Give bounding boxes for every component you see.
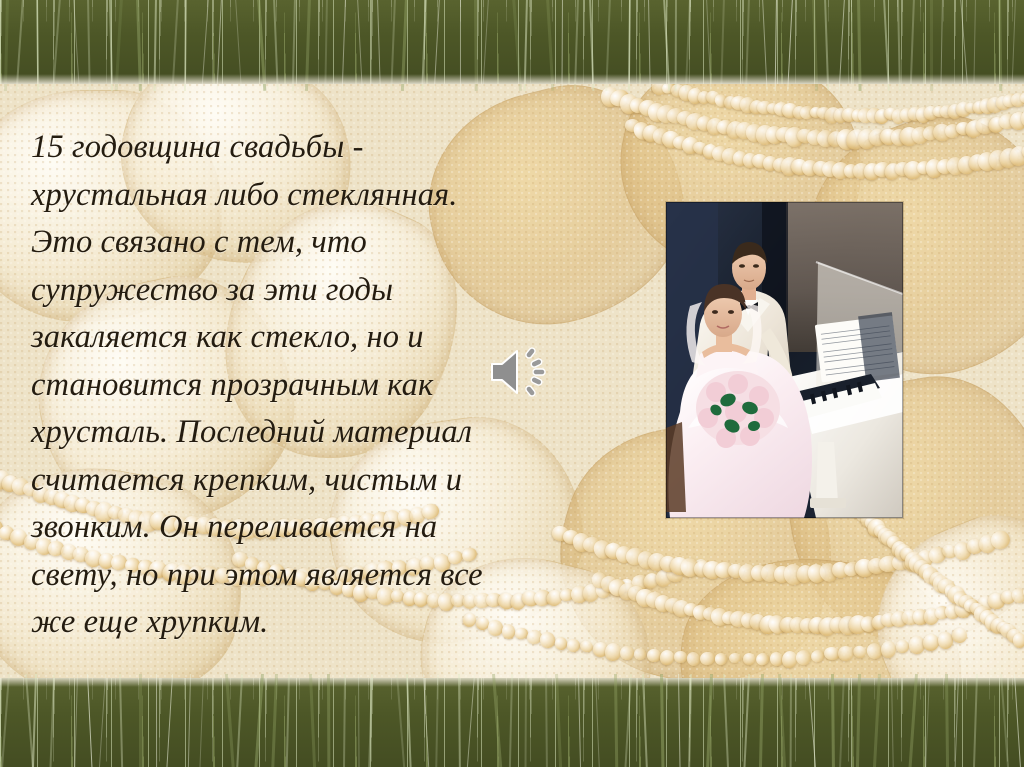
grass-stalk — [271, 674, 278, 767]
grass-stalk — [721, 0, 726, 91]
grass-stalk — [688, 674, 692, 767]
body-text-line: хрустальная либо стеклянная. — [31, 172, 546, 220]
grass-stalk — [327, 674, 330, 767]
grass-stalk — [458, 674, 461, 767]
grass-stalk — [474, 0, 478, 91]
body-text-line: звонким. Он переливается на — [31, 504, 546, 552]
grass-stalk — [524, 0, 528, 91]
grass-stalk — [685, 0, 691, 91]
grass-stalk — [401, 0, 408, 91]
grass-stalk — [36, 0, 39, 91]
grass-stalk — [648, 0, 651, 91]
grass-stalk — [156, 674, 157, 767]
grass-stalk — [166, 674, 173, 767]
grass-stalk — [377, 0, 381, 91]
grass-stalk — [406, 674, 412, 767]
grass-stalk — [955, 674, 960, 767]
grass-stalk — [674, 0, 676, 91]
grass-stalk — [546, 0, 554, 91]
grass-stalk — [52, 0, 61, 91]
grass-stalk — [663, 0, 670, 91]
grass-stalk — [201, 0, 209, 91]
wedding-photo — [666, 202, 903, 518]
grass-stalk — [808, 674, 816, 767]
grass-stalk — [706, 674, 713, 767]
grass-stalk — [136, 0, 142, 91]
grass-stalk — [73, 0, 80, 91]
grass-stalk — [216, 0, 221, 91]
grass-stalk — [187, 674, 190, 767]
body-text-line: хрусталь. Последний материал — [31, 409, 546, 457]
grass-stalk — [824, 0, 829, 91]
grass-stalk — [1014, 674, 1021, 767]
grass-stalk — [973, 674, 978, 767]
grass-stalk — [139, 674, 142, 767]
grass-stalk — [838, 0, 844, 91]
grass-stalk — [99, 674, 106, 767]
grass-stalk — [745, 0, 750, 91]
grass-stalk — [973, 0, 976, 91]
presentation-slide: 15 годовщина свадьбы -хрустальная либо с… — [0, 0, 1024, 767]
grass-stalk — [257, 0, 266, 91]
grass-stalk — [909, 0, 914, 91]
grass-stalk — [119, 674, 123, 767]
body-text-line: становится прозрачным как — [31, 362, 546, 410]
grass-stalk — [153, 0, 156, 91]
grass-stalk — [396, 674, 406, 767]
grass-stalk — [525, 674, 528, 767]
grass-stalk — [857, 0, 862, 91]
grass-stalk — [390, 0, 396, 91]
body-text-line: считается крепким, чистым и — [31, 457, 546, 505]
grass-stalk — [812, 0, 818, 91]
grass-stalk — [1, 674, 10, 767]
grass-stalk — [545, 674, 548, 767]
grass-stalk — [606, 0, 612, 91]
grass-stalk — [891, 674, 894, 767]
top-decorative-border — [0, 0, 1024, 84]
grass-stalk — [512, 0, 522, 91]
grass-stalk — [467, 674, 476, 767]
grass-stalk — [945, 674, 949, 767]
grass-stalk — [305, 0, 311, 91]
grass-stalk — [423, 674, 430, 767]
grass-stalk — [273, 0, 279, 91]
grass-stalk — [254, 674, 264, 767]
grass-stalk — [343, 674, 346, 767]
grass-stalk — [357, 0, 363, 91]
grass-stalk — [678, 674, 681, 767]
grass-stalk — [225, 674, 235, 767]
grass-stalk — [925, 674, 930, 767]
grass-stalk — [941, 0, 944, 91]
grass-stalk — [109, 0, 113, 91]
grass-stalk — [236, 674, 243, 767]
grass-stalk — [286, 674, 290, 767]
grass-stalk — [759, 674, 764, 767]
grass-stalk — [32, 674, 37, 767]
grass-stalk — [342, 0, 346, 91]
body-text-line: Это связано с тем, что — [31, 219, 546, 267]
grass-stalk — [368, 674, 373, 767]
grass-stalk — [778, 674, 786, 767]
grass-stalk — [789, 674, 791, 767]
body-text-line: же еще хрупким. — [31, 599, 546, 647]
grass-stalk — [960, 0, 968, 90]
grass-stalk — [930, 0, 933, 91]
grass-stalk — [628, 0, 631, 91]
speaker-icon[interactable] — [489, 344, 551, 400]
grass-stalk — [624, 674, 632, 767]
grass-stalk — [743, 674, 750, 767]
grass-stalk — [788, 0, 794, 91]
grass-stalk — [595, 674, 600, 767]
grass-stalk — [723, 674, 729, 767]
grass-stalk — [762, 0, 768, 91]
grass-stalk — [460, 0, 461, 91]
grass-stalk — [642, 674, 648, 767]
grass-stalk — [172, 0, 179, 91]
grass-stalk — [49, 674, 55, 767]
body-text-line: супружество за эти годы — [31, 267, 546, 315]
grass-stalk — [555, 674, 562, 767]
grass-stalk — [774, 0, 776, 91]
grass-stalk — [115, 0, 123, 91]
grass-stalk — [309, 674, 316, 767]
body-text-line: свету, но при этом является все — [31, 552, 546, 600]
body-text-line: закаляется как стекло, но и — [31, 314, 546, 362]
grass-stalk — [839, 674, 845, 767]
grass-stalk — [324, 0, 328, 91]
grass-stalk — [856, 674, 861, 767]
grass-stalk — [706, 0, 711, 91]
grass-stalk — [1012, 0, 1017, 91]
grass-stalk — [435, 674, 439, 767]
grass-stalk — [492, 674, 503, 767]
grass-stalk — [831, 674, 835, 767]
grass-stalk — [1000, 674, 1010, 767]
grass-stalk — [4, 0, 9, 91]
grass-stalk — [235, 0, 242, 91]
bottom-decorative-border — [0, 678, 1024, 767]
grass-stalk — [87, 0, 91, 91]
grass-stalk — [292, 0, 296, 91]
grass-stalk — [574, 0, 579, 91]
grass-stalk — [74, 674, 78, 767]
grass-stalk — [873, 674, 881, 767]
grass-stalk — [908, 674, 918, 767]
slide-body-text: 15 годовщина свадьбы -хрустальная либо с… — [31, 124, 546, 647]
grass-stalk — [883, 0, 890, 91]
grass-stalk — [509, 674, 513, 767]
grass-stalk — [358, 674, 360, 767]
grass-stalk — [897, 0, 901, 91]
grass-stalk — [87, 674, 93, 767]
grass-stalk — [578, 674, 581, 767]
grass-stalk — [660, 674, 665, 767]
grass-stalk — [998, 0, 1002, 91]
grass-stalk — [589, 0, 594, 91]
body-text-line: 15 годовщина свадьбы - — [31, 124, 546, 172]
grass-stalk — [200, 674, 205, 767]
grass-stalk — [614, 674, 618, 767]
grass-stalk — [561, 0, 563, 91]
grass-stalk — [184, 0, 187, 91]
grass-stalk — [16, 0, 24, 91]
grass-stalk — [434, 0, 440, 91]
grass-stalk — [421, 0, 427, 91]
grass-stalk — [482, 0, 489, 91]
